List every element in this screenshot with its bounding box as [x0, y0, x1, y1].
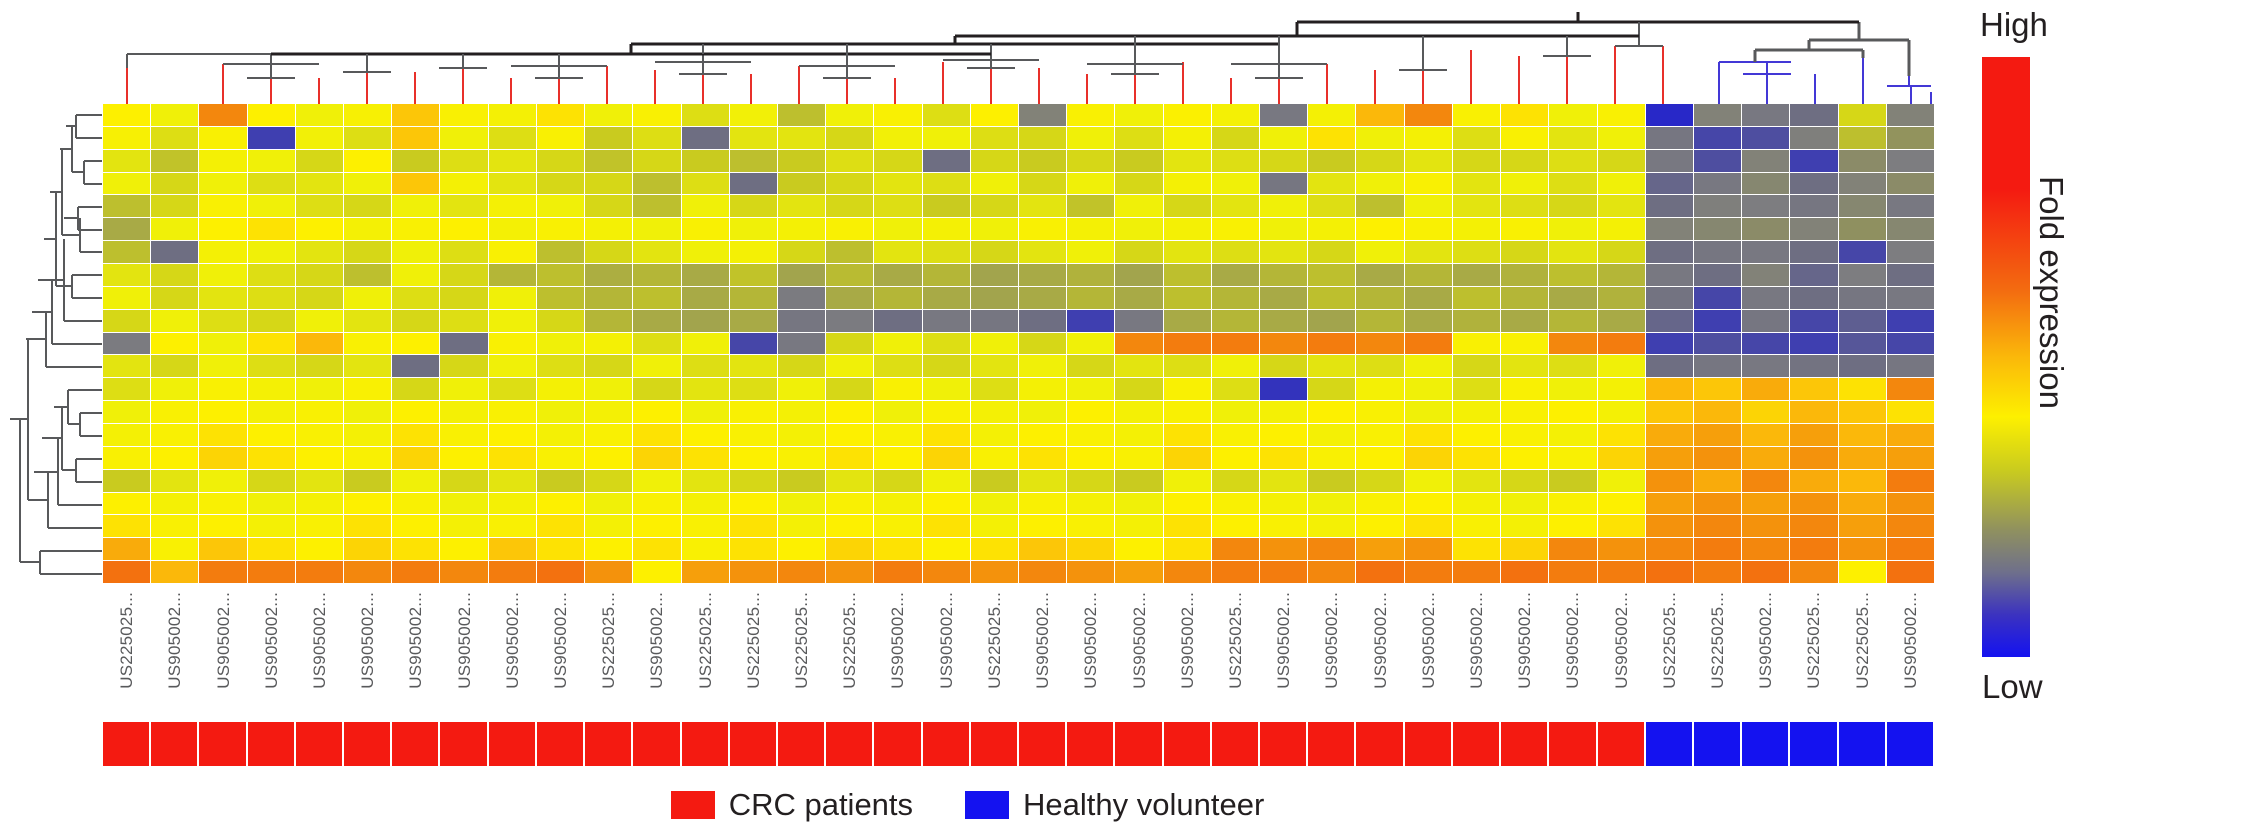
heatmap-cell	[199, 515, 247, 538]
heatmap-cell	[296, 538, 344, 561]
heatmap-cell	[489, 378, 537, 401]
heatmap-cell	[440, 561, 488, 584]
heatmap-cell	[1887, 287, 1935, 310]
heatmap-cell	[778, 104, 826, 127]
heatmap-cell	[392, 515, 440, 538]
heatmap-cell	[826, 561, 874, 584]
heatmap-cell	[440, 470, 488, 493]
heatmap-cell	[1646, 310, 1694, 333]
column-label-slot: US225025...	[730, 588, 778, 708]
heatmap-cell	[1019, 333, 1067, 356]
heatmap-cell	[1742, 241, 1790, 264]
heatmap-cell	[537, 264, 585, 287]
heatmap-cell	[489, 264, 537, 287]
heatmap-cell	[1019, 195, 1067, 218]
group-annotation-cell	[923, 722, 971, 766]
heatmap-cell	[730, 264, 778, 287]
heatmap-cell	[1115, 173, 1163, 196]
heatmap-cell	[1598, 173, 1646, 196]
heatmap-cell	[1356, 447, 1404, 470]
heatmap-cell	[1405, 515, 1453, 538]
heatmap-cell	[1646, 218, 1694, 241]
heatmap-cell	[151, 218, 199, 241]
heatmap-cell	[585, 493, 633, 516]
heatmap-cell	[730, 424, 778, 447]
heatmap-cell	[633, 195, 681, 218]
heatmap-cell	[199, 333, 247, 356]
heatmap-cell	[971, 264, 1019, 287]
heatmap-cell	[1067, 515, 1115, 538]
group-annotation-cell	[1115, 722, 1163, 766]
column-label: US905002...	[1033, 592, 1053, 689]
heatmap-cell	[199, 561, 247, 584]
heatmap-cell	[1164, 401, 1212, 424]
heatmap-cell	[1549, 561, 1597, 584]
heatmap-cell	[344, 127, 392, 150]
heatmap-cell	[730, 310, 778, 333]
heatmap-cell	[874, 104, 922, 127]
heatmap-cell	[392, 104, 440, 127]
heatmap-cell	[1549, 333, 1597, 356]
heatmap-cell	[1405, 378, 1453, 401]
group-annotation-cell	[248, 722, 296, 766]
heatmap-row	[103, 333, 1935, 356]
heatmap-cell	[874, 241, 922, 264]
heatmap-cell	[1453, 493, 1501, 516]
heatmap-cell	[971, 287, 1019, 310]
heatmap-cell	[1839, 355, 1887, 378]
heatmap-cell	[923, 218, 971, 241]
heatmap-cell	[682, 127, 730, 150]
heatmap-cell	[489, 150, 537, 173]
heatmap-cell	[1694, 287, 1742, 310]
heatmap-cell	[923, 310, 971, 333]
heatmap-cell	[730, 561, 778, 584]
heatmap-cell	[1308, 287, 1356, 310]
heatmap-cell	[1164, 355, 1212, 378]
heatmap-row	[103, 424, 1935, 447]
heatmap-cell	[1694, 218, 1742, 241]
heatmap-cell	[1549, 515, 1597, 538]
heatmap-cell	[633, 424, 681, 447]
heatmap-cell	[826, 150, 874, 173]
heatmap-cell	[1164, 561, 1212, 584]
heatmap-cell	[296, 493, 344, 516]
heatmap-cell	[1694, 104, 1742, 127]
heatmap-cell	[392, 561, 440, 584]
heatmap-cell	[199, 378, 247, 401]
column-label: US225025...	[696, 592, 716, 689]
heatmap-cell	[971, 218, 1019, 241]
heatmap-cell	[1501, 104, 1549, 127]
heatmap-cell	[682, 150, 730, 173]
heatmap-cell	[1308, 470, 1356, 493]
heatmap-cell	[151, 264, 199, 287]
heatmap-cell	[971, 195, 1019, 218]
heatmap-cell	[1790, 447, 1838, 470]
column-label-slot: US225025...	[1790, 588, 1838, 708]
heatmap-cell	[1646, 333, 1694, 356]
heatmap-cell	[1115, 195, 1163, 218]
heatmap-cell	[874, 150, 922, 173]
heatmap-cell	[778, 424, 826, 447]
heatmap-cell	[1742, 447, 1790, 470]
heatmap-cell	[1887, 150, 1935, 173]
heatmap-cell	[1453, 355, 1501, 378]
column-dendrogram	[103, 6, 1935, 104]
heatmap-cell	[296, 378, 344, 401]
heatmap-cell	[1405, 127, 1453, 150]
heatmap-cell	[1019, 264, 1067, 287]
heatmap-cell	[1790, 310, 1838, 333]
heatmap-cell	[344, 218, 392, 241]
heatmap-cell	[1453, 378, 1501, 401]
heatmap-cell	[1790, 218, 1838, 241]
heatmap-cell	[923, 333, 971, 356]
heatmap-cell	[1839, 424, 1887, 447]
heatmap-cell	[682, 378, 730, 401]
column-label: US905002...	[1756, 592, 1776, 689]
heatmap-cell	[874, 378, 922, 401]
heatmap-cell	[537, 241, 585, 264]
heatmap-cell	[585, 447, 633, 470]
heatmap-cell	[1356, 561, 1404, 584]
group-annotation-cell	[1019, 722, 1067, 766]
heatmap-cell	[1646, 173, 1694, 196]
heatmap-cell	[1598, 515, 1646, 538]
heatmap-cell	[682, 493, 730, 516]
heatmap-cell	[1598, 104, 1646, 127]
group-annotation-cell	[874, 722, 922, 766]
heatmap-cell	[1067, 195, 1115, 218]
heatmap-cell	[1212, 173, 1260, 196]
heatmap-cell	[248, 401, 296, 424]
heatmap-cell	[1405, 104, 1453, 127]
heatmap-cell	[1646, 104, 1694, 127]
heatmap-cell	[971, 355, 1019, 378]
heatmap-cell	[392, 424, 440, 447]
heatmap-cell	[1887, 264, 1935, 287]
heatmap-cell	[1742, 127, 1790, 150]
heatmap-cell	[1356, 218, 1404, 241]
heatmap-cell	[1549, 538, 1597, 561]
heatmap-cell	[151, 355, 199, 378]
heatmap-cell	[296, 287, 344, 310]
colorbar-high-label: High	[1980, 6, 2048, 44]
column-label-slot: US225025...	[1694, 588, 1742, 708]
heatmap-cell	[1212, 561, 1260, 584]
heatmap-cell	[103, 287, 151, 310]
heatmap-cell	[633, 561, 681, 584]
heatmap-cell	[1887, 333, 1935, 356]
heatmap-cell	[874, 264, 922, 287]
heatmap-cell	[1790, 538, 1838, 561]
heatmap-cell	[874, 493, 922, 516]
heatmap-cell	[1308, 310, 1356, 333]
heatmap-cell	[778, 470, 826, 493]
heatmap-cell	[1212, 104, 1260, 127]
heatmap-cell	[296, 355, 344, 378]
heatmap-cell	[1839, 310, 1887, 333]
column-label: US225025...	[1804, 592, 1824, 689]
heatmap-cell	[778, 538, 826, 561]
heatmap-cell	[296, 104, 344, 127]
heatmap-cell	[874, 424, 922, 447]
heatmap-cell	[730, 493, 778, 516]
heatmap-cell	[826, 104, 874, 127]
heatmap-cell	[199, 470, 247, 493]
column-label-slot: US225025...	[1646, 588, 1694, 708]
heatmap-cell	[1212, 493, 1260, 516]
heatmap-cell	[1356, 401, 1404, 424]
heatmap-row	[103, 310, 1935, 333]
heatmap-cell	[1453, 104, 1501, 127]
heatmap-cell	[1453, 218, 1501, 241]
group-annotation-cell	[537, 722, 585, 766]
heatmap-cell	[103, 195, 151, 218]
legend-item: Healthy volunteer	[965, 787, 1264, 823]
heatmap-cell	[248, 310, 296, 333]
group-annotation-cell	[103, 722, 151, 766]
heatmap-cell	[874, 287, 922, 310]
heatmap-cell	[440, 424, 488, 447]
heatmap-cell	[1501, 378, 1549, 401]
heatmap-cell	[633, 447, 681, 470]
heatmap-cell	[248, 424, 296, 447]
heatmap-cell	[1212, 264, 1260, 287]
column-label-slot: US905002...	[344, 588, 392, 708]
heatmap-cell	[923, 241, 971, 264]
heatmap-cell	[296, 310, 344, 333]
heatmap-cell	[1549, 447, 1597, 470]
heatmap-cell	[1115, 493, 1163, 516]
heatmap-cell	[537, 447, 585, 470]
heatmap-cell	[971, 538, 1019, 561]
heatmap-row	[103, 241, 1935, 264]
heatmap-cell	[103, 561, 151, 584]
heatmap-cell	[103, 447, 151, 470]
column-label: US905002...	[1371, 592, 1391, 689]
heatmap-cell	[778, 378, 826, 401]
heatmap-cell	[1212, 355, 1260, 378]
heatmap-cell	[1694, 173, 1742, 196]
heatmap-cell	[1164, 378, 1212, 401]
heatmap-cell	[1308, 447, 1356, 470]
heatmap-cell	[682, 538, 730, 561]
heatmap-cell	[1405, 447, 1453, 470]
heatmap-cell	[682, 401, 730, 424]
heatmap-cell	[1694, 264, 1742, 287]
column-label-slot: US905002...	[1019, 588, 1067, 708]
heatmap-cell	[489, 515, 537, 538]
heatmap-cell	[1260, 538, 1308, 561]
heatmap-cell	[633, 104, 681, 127]
heatmap-cell	[1115, 287, 1163, 310]
heatmap-cell	[199, 150, 247, 173]
heatmap-cell	[537, 287, 585, 310]
heatmap-cell	[151, 195, 199, 218]
heatmap-cell	[1260, 355, 1308, 378]
heatmap-cell	[1453, 401, 1501, 424]
heatmap-cell	[1453, 127, 1501, 150]
heatmap-cell	[1212, 424, 1260, 447]
heatmap-cell	[874, 515, 922, 538]
heatmap-cell	[489, 173, 537, 196]
heatmap-cell	[392, 241, 440, 264]
heatmap-cell	[537, 378, 585, 401]
heatmap-cell	[1839, 401, 1887, 424]
heatmap-cell	[537, 470, 585, 493]
heatmap-cell	[1742, 378, 1790, 401]
heatmap-cell	[1598, 218, 1646, 241]
heatmap-cell	[1646, 287, 1694, 310]
heatmap-cell	[1742, 401, 1790, 424]
heatmap-cell	[1308, 218, 1356, 241]
heatmap-cell	[682, 195, 730, 218]
column-label-slot: US905002...	[1405, 588, 1453, 708]
group-annotation-cell	[1405, 722, 1453, 766]
heatmap-cell	[1790, 241, 1838, 264]
heatmap-cell	[151, 378, 199, 401]
heatmap-cell	[778, 127, 826, 150]
heatmap-cell	[392, 173, 440, 196]
heatmap-cell	[489, 470, 537, 493]
heatmap-cell	[248, 470, 296, 493]
heatmap-cell	[1164, 127, 1212, 150]
heatmap-cell	[874, 127, 922, 150]
heatmap-cell	[1356, 241, 1404, 264]
heatmap-cell	[923, 127, 971, 150]
heatmap-cell	[296, 173, 344, 196]
colorbar-axis-title: Fold expression	[2032, 176, 2070, 409]
heatmap-cell	[1356, 333, 1404, 356]
heatmap-cell	[1019, 218, 1067, 241]
heatmap-cell	[1308, 127, 1356, 150]
heatmap-cell	[1115, 515, 1163, 538]
heatmap-row	[103, 218, 1935, 241]
heatmap-grid	[103, 104, 1935, 584]
heatmap-cell	[1742, 287, 1790, 310]
heatmap-cell	[1790, 355, 1838, 378]
heatmap-cell	[1067, 355, 1115, 378]
heatmap-cell	[923, 287, 971, 310]
heatmap-cell	[730, 104, 778, 127]
heatmap-cell	[1260, 150, 1308, 173]
heatmap-cell	[585, 173, 633, 196]
heatmap-cell	[1742, 173, 1790, 196]
heatmap-cell	[344, 333, 392, 356]
column-label-slot: US225025...	[778, 588, 826, 708]
heatmap-cell	[730, 538, 778, 561]
heatmap-cell	[1742, 470, 1790, 493]
heatmap-cell	[1067, 447, 1115, 470]
heatmap-cell	[440, 310, 488, 333]
heatmap-cell	[248, 287, 296, 310]
heatmap-cell	[151, 287, 199, 310]
heatmap-cell	[1501, 150, 1549, 173]
heatmap-row	[103, 104, 1935, 127]
heatmap-cell	[1501, 333, 1549, 356]
heatmap-cell	[1598, 150, 1646, 173]
column-label: US905002...	[647, 592, 667, 689]
heatmap-cell	[1887, 538, 1935, 561]
heatmap-cell	[151, 127, 199, 150]
heatmap-cell	[392, 355, 440, 378]
column-label-slot: US225025...	[682, 588, 730, 708]
heatmap-cell	[1115, 241, 1163, 264]
heatmap-cell	[1453, 264, 1501, 287]
heatmap-cell	[1598, 493, 1646, 516]
group-annotation-cell	[1549, 722, 1597, 766]
heatmap-cell	[826, 287, 874, 310]
heatmap-cell	[923, 195, 971, 218]
heatmap-cell	[1598, 561, 1646, 584]
heatmap-cell	[1887, 515, 1935, 538]
heatmap-cell	[1308, 493, 1356, 516]
heatmap-cell	[344, 401, 392, 424]
heatmap-cell	[778, 195, 826, 218]
heatmap-cell	[1742, 424, 1790, 447]
heatmap-cell	[1115, 355, 1163, 378]
heatmap-cell	[1646, 470, 1694, 493]
column-label-slot: US905002...	[1260, 588, 1308, 708]
heatmap-cell	[1453, 287, 1501, 310]
column-label-slot: US225025...	[585, 588, 633, 708]
heatmap-cell	[248, 150, 296, 173]
heatmap-cell	[923, 104, 971, 127]
heatmap-cell	[248, 218, 296, 241]
heatmap-cell	[1501, 310, 1549, 333]
heatmap-cell	[151, 241, 199, 264]
heatmap-cell	[1501, 561, 1549, 584]
heatmap-cell	[1646, 515, 1694, 538]
group-annotation-cell	[1790, 722, 1838, 766]
heatmap-cell	[1260, 424, 1308, 447]
group-annotation-cell	[1164, 722, 1212, 766]
heatmap-cell	[585, 195, 633, 218]
heatmap-cell	[923, 470, 971, 493]
heatmap-cell	[1019, 538, 1067, 561]
column-label-slot: US905002...	[1356, 588, 1404, 708]
heatmap-cell	[923, 173, 971, 196]
group-annotation-cell	[440, 722, 488, 766]
heatmap-cell	[392, 310, 440, 333]
heatmap-cell	[1164, 447, 1212, 470]
heatmap-cell	[1790, 515, 1838, 538]
group-annotation-cell	[1501, 722, 1549, 766]
column-label-slot: US225025...	[1839, 588, 1887, 708]
legend-swatch	[671, 791, 715, 819]
heatmap-cell	[826, 333, 874, 356]
column-label-slot: US905002...	[440, 588, 488, 708]
heatmap-cell	[537, 127, 585, 150]
heatmap-cell	[971, 127, 1019, 150]
heatmap-cell	[682, 287, 730, 310]
heatmap-cell	[1019, 104, 1067, 127]
row-dendrogram	[6, 104, 102, 584]
column-label-slot: US225025...	[103, 588, 151, 708]
heatmap-cell	[1646, 127, 1694, 150]
heatmap-cell	[730, 218, 778, 241]
heatmap-cell	[826, 264, 874, 287]
heatmap-cell	[1308, 264, 1356, 287]
heatmap-cell	[874, 470, 922, 493]
heatmap-cell	[199, 241, 247, 264]
heatmap-cell	[826, 424, 874, 447]
heatmap-cell	[1212, 195, 1260, 218]
heatmap-cell	[1790, 333, 1838, 356]
heatmap-cell	[1453, 538, 1501, 561]
